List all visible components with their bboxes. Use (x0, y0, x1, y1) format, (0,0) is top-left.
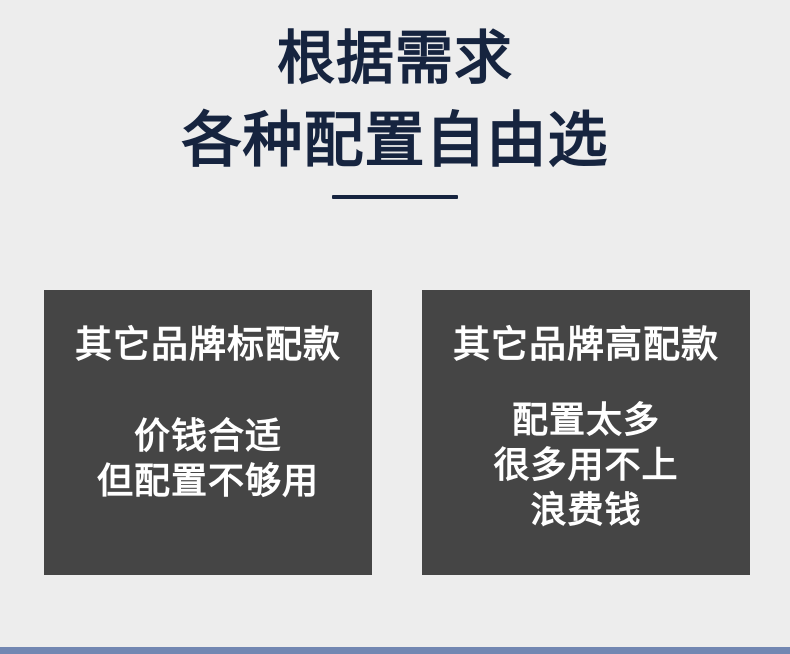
card-title-premium: 其它品牌高配款 (453, 324, 719, 367)
card-body-standard: 价钱合适 但配置不够用 (54, 413, 362, 504)
comparison-card-standard: 其它品牌标配款 价钱合适 但配置不够用 (44, 290, 372, 575)
card-body-line: 价钱合适 (134, 413, 282, 458)
promo-page: 根据需求 各种配置自由选 其它品牌标配款 价钱合适 但配置不够用 其它品牌高配款… (0, 0, 790, 654)
card-body-line: 但配置不够用 (97, 458, 319, 503)
card-body-line: 浪费钱 (530, 487, 641, 532)
card-body-line: 很多用不上 (493, 442, 678, 487)
comparison-card-premium: 其它品牌高配款 配置太多 很多用不上 浪费钱 (422, 290, 750, 575)
title-divider (332, 195, 458, 199)
heading-block: 根据需求 各种配置自由选 (0, 0, 790, 199)
card-body-premium: 配置太多 很多用不上 浪费钱 (432, 397, 740, 533)
bottom-accent-strip (0, 647, 790, 654)
page-title-line-2: 各种配置自由选 (0, 109, 790, 174)
page-title-line-1: 根据需求 (0, 28, 790, 91)
card-title-standard: 其它品牌标配款 (75, 324, 341, 367)
comparison-cards-row: 其它品牌标配款 价钱合适 但配置不够用 其它品牌高配款 配置太多 很多用不上 浪… (44, 290, 750, 575)
card-body-line: 配置太多 (512, 397, 660, 442)
